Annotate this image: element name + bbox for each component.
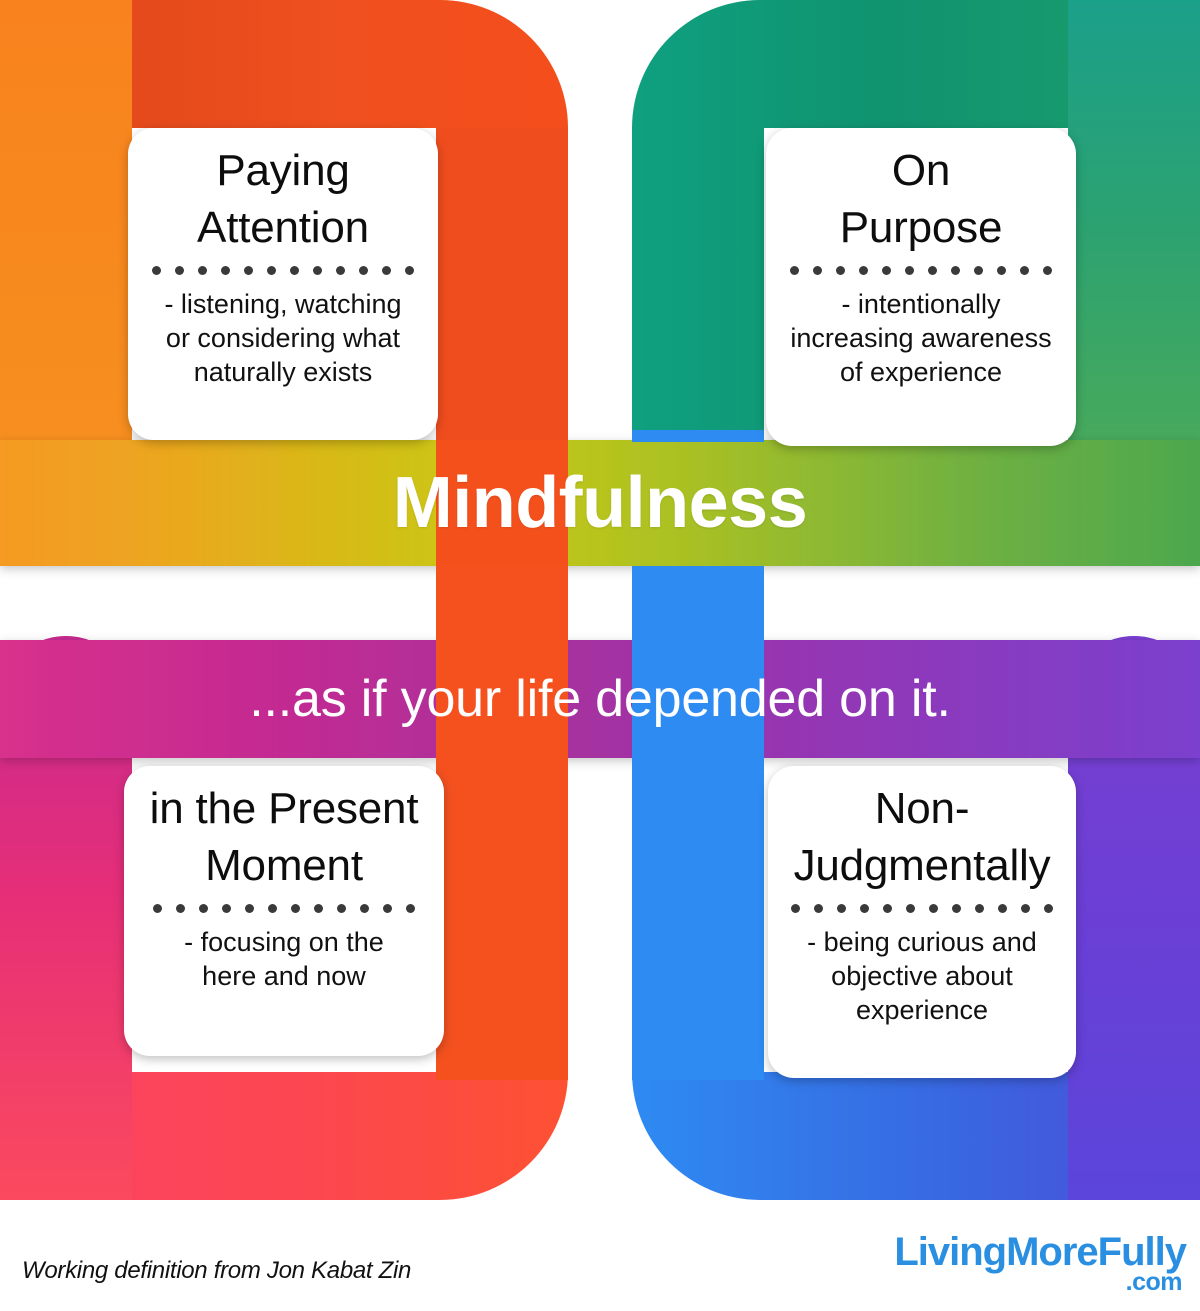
infographic-canvas: Paying Attention - listening, watching o…	[0, 0, 1200, 1311]
card-body: - listening, watching or considering wha…	[164, 287, 401, 389]
card-present-moment[interactable]: in the Present Moment - focusing on the …	[124, 766, 444, 1056]
card-body: - focusing on the here and now	[184, 925, 384, 993]
logo-wordmark: LivingMoreFully	[894, 1232, 1186, 1272]
card-body: - being curious and objective about expe…	[807, 925, 1037, 1027]
card-non-judgmentally[interactable]: Non- Judgmentally - being curious and ob…	[768, 766, 1076, 1078]
weave-strip-teal-vertical	[632, 128, 764, 440]
card-title: On Purpose	[840, 142, 1002, 256]
banner-mindfulness-text: Mindfulness	[393, 440, 808, 566]
banner-subtitle-text: ...as if your life depended on it.	[249, 640, 950, 758]
card-body: - intentionally increasing awareness of …	[790, 287, 1051, 389]
card-title: Paying Attention	[197, 142, 369, 256]
card-paying-attention[interactable]: Paying Attention - listening, watching o…	[128, 128, 438, 440]
livingmorefully-logo[interactable]: LivingMoreFully .com	[894, 1232, 1186, 1295]
dotted-divider	[790, 266, 1052, 275]
card-on-purpose[interactable]: On Purpose - intentionally increasing aw…	[766, 128, 1076, 446]
credit-line: Working definition from Jon Kabat Zin	[22, 1257, 411, 1285]
dotted-divider	[153, 904, 415, 913]
dotted-divider	[152, 266, 414, 275]
footer: Working definition from Jon Kabat Zin Li…	[0, 1200, 1200, 1311]
card-title: Non- Judgmentally	[794, 780, 1051, 894]
card-title: in the Present Moment	[150, 780, 419, 894]
dotted-divider	[791, 904, 1053, 913]
banner-mindfulness: Mindfulness	[0, 440, 1200, 566]
banner-subtitle: ...as if your life depended on it.	[0, 640, 1200, 758]
